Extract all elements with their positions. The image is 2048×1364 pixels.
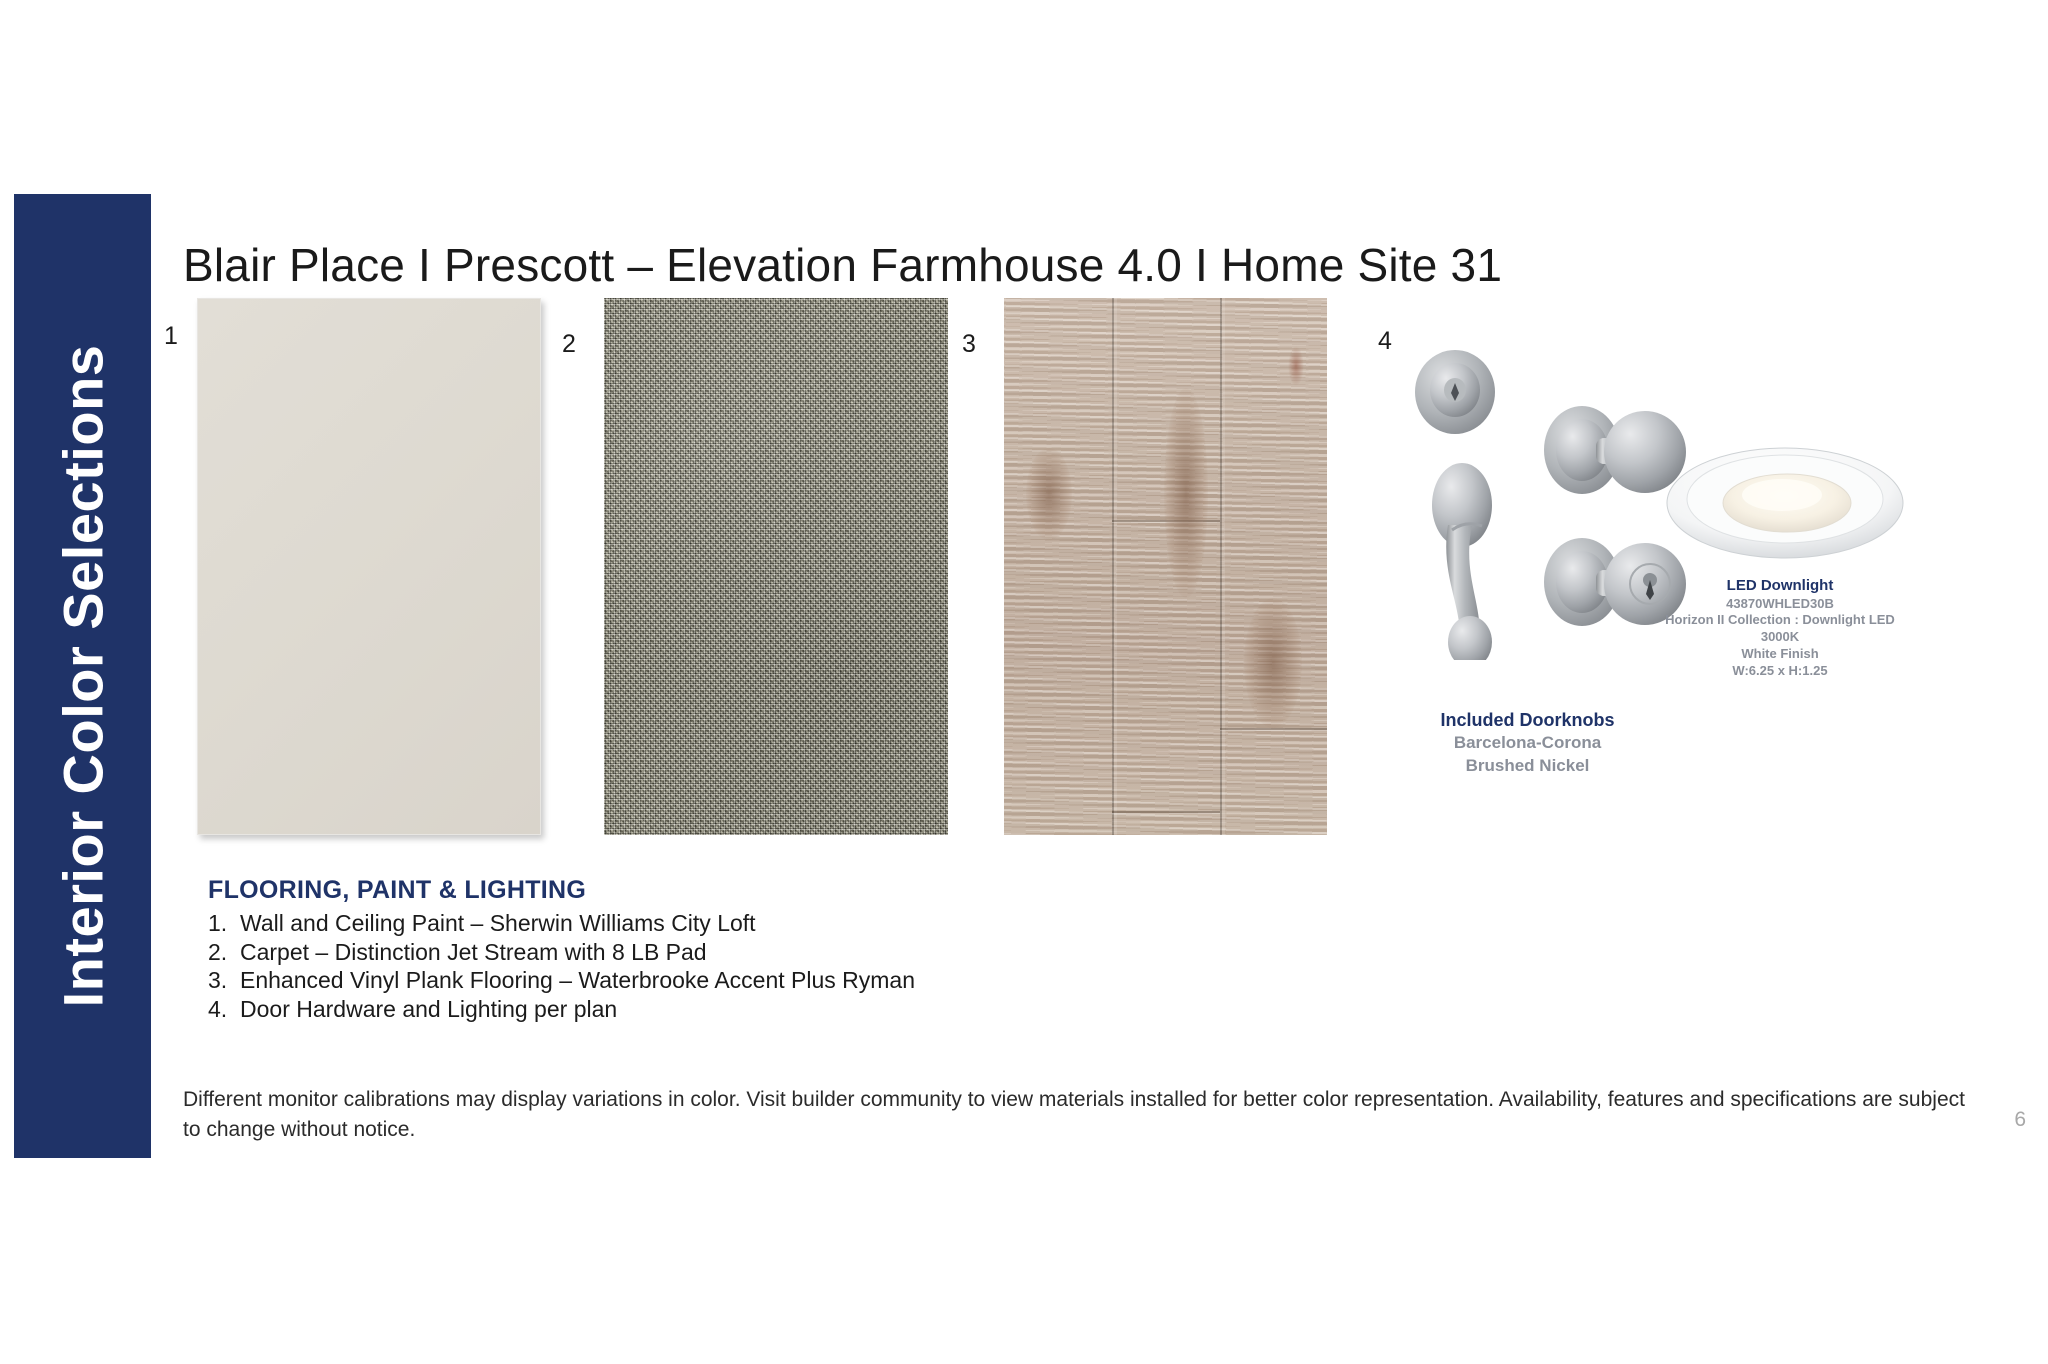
plank-seam bbox=[1220, 728, 1327, 730]
doorknob-caption-line2: Brushed Nickel bbox=[1400, 755, 1655, 778]
list-item: 1.Wall and Ceiling Paint – Sherwin Willi… bbox=[208, 910, 915, 938]
swatch-number-4: 4 bbox=[1378, 327, 1392, 356]
swatch-number-2: 2 bbox=[562, 330, 576, 359]
paint-swatch bbox=[197, 298, 541, 835]
list-item: 3.Enhanced Vinyl Plank Flooring – Waterb… bbox=[208, 967, 915, 995]
carpet-swatch bbox=[604, 298, 948, 835]
led-caption-line1: 43870WHLED30B bbox=[1645, 596, 1915, 613]
wood-knot bbox=[1026, 448, 1072, 540]
plank-seam bbox=[1112, 811, 1220, 813]
list-item: 2.Carpet – Distinction Jet Stream with 8… bbox=[208, 939, 915, 967]
slide-canvas: Interior Color Selections Blair Place I … bbox=[0, 0, 2048, 1364]
spec-list: 1.Wall and Ceiling Paint – Sherwin Willi… bbox=[208, 910, 915, 1024]
list-item-label: Enhanced Vinyl Plank Flooring – Waterbro… bbox=[240, 967, 915, 993]
led-caption-line5: W:6.25 x H:1.25 bbox=[1645, 663, 1915, 680]
list-item-number: 2. bbox=[208, 939, 240, 967]
doorknob-caption: Included Doorknobs Barcelona-Corona Brus… bbox=[1400, 708, 1655, 778]
doorknob-caption-line1: Barcelona-Corona bbox=[1400, 732, 1655, 755]
doorknob-caption-title: Included Doorknobs bbox=[1400, 708, 1655, 732]
list-item-label: Wall and Ceiling Paint – Sherwin William… bbox=[240, 910, 756, 936]
led-downlight-caption: LED Downlight 43870WHLED30B Horizon II C… bbox=[1645, 576, 1915, 680]
vinyl-plank-swatch bbox=[1004, 298, 1327, 835]
swatch-number-3: 3 bbox=[962, 330, 976, 359]
swatch-row: 1 2 3 4 bbox=[0, 0, 2048, 1364]
led-caption-line2: Horizon II Collection : Downlight LED bbox=[1645, 612, 1915, 629]
list-item-label: Carpet – Distinction Jet Stream with 8 L… bbox=[240, 939, 707, 965]
list-item-number: 4. bbox=[208, 996, 240, 1024]
wood-knot bbox=[1244, 598, 1302, 728]
list-item-number: 3. bbox=[208, 967, 240, 995]
list-item-label: Door Hardware and Lighting per plan bbox=[240, 996, 617, 1022]
led-caption-line3: 3000K bbox=[1645, 629, 1915, 646]
spec-heading: FLOORING, PAINT & LIGHTING bbox=[208, 876, 586, 905]
wood-knot bbox=[1288, 346, 1304, 386]
footer-disclaimer: Different monitor calibrations may displ… bbox=[183, 1085, 1973, 1145]
wood-knot bbox=[1164, 388, 1208, 598]
led-downlight-image bbox=[1660, 425, 1910, 585]
list-item-number: 1. bbox=[208, 910, 240, 938]
list-item: 4.Door Hardware and Lighting per plan bbox=[208, 996, 915, 1024]
led-caption-line4: White Finish bbox=[1645, 646, 1915, 663]
led-caption-title: LED Downlight bbox=[1645, 576, 1915, 596]
swatch-number-1: 1 bbox=[164, 322, 178, 351]
page-number: 6 bbox=[2014, 1108, 2026, 1132]
